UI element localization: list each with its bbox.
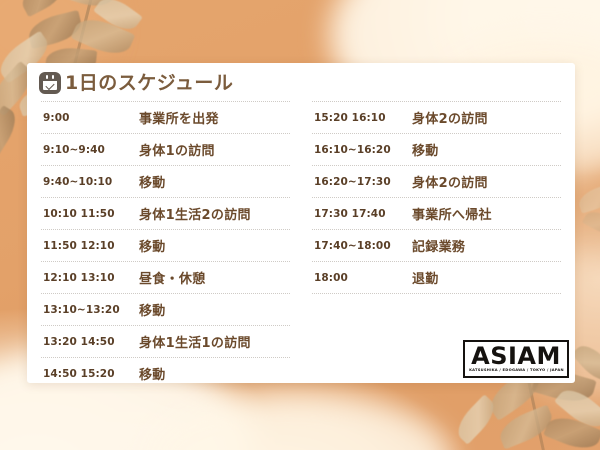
row-time: 13:20 14:50 (43, 336, 139, 348)
row-activity: 身体2の訪問 (412, 172, 559, 191)
table-row: 13:20 14:50 身体1生活1の訪問 (41, 325, 290, 357)
row-time: 16:10~16:20 (314, 144, 412, 156)
row-time: 13:10~13:20 (43, 304, 139, 316)
row-activity: 昼食・休憩 (139, 268, 288, 287)
row-activity: 移動 (139, 236, 288, 255)
morning-column: 9:00 事業所を出発 9:10~9:40 身体1の訪問 9:40~10:10 … (41, 101, 290, 383)
row-activity: 身体2の訪問 (412, 108, 559, 127)
table-row: 14:50 15:20 移動 (41, 357, 290, 383)
row-time: 15:20 16:10 (314, 112, 412, 124)
row-time: 11:50 12:10 (43, 240, 139, 252)
table-row: 13:10~13:20 移動 (41, 293, 290, 325)
row-time: 9:10~9:40 (43, 144, 139, 156)
row-activity: 事業所へ帰社 (412, 204, 559, 223)
row-activity: 退勤 (412, 268, 559, 287)
calendar-icon (39, 72, 61, 94)
asiam-logo: ASIAM KATSUSHIKA / EDOGAWA / TOKYO / JAP… (463, 340, 569, 378)
row-time: 10:10 11:50 (43, 208, 139, 220)
table-row: 17:30 17:40 事業所へ帰社 (312, 197, 561, 229)
row-time: 9:40~10:10 (43, 176, 139, 188)
row-time: 9:00 (43, 112, 139, 124)
table-row: 9:10~9:40 身体1の訪問 (41, 133, 290, 165)
table-row: 11:50 12:10 移動 (41, 229, 290, 261)
row-activity: 事業所を出発 (139, 108, 288, 127)
row-time: 18:00 (314, 272, 412, 284)
table-row: 9:40~10:10 移動 (41, 165, 290, 197)
row-time: 17:30 17:40 (314, 208, 412, 220)
logo-subtitle: KATSUSHIKA / EDOGAWA / TOKYO / JAPAN (469, 368, 563, 373)
table-row: 10:10 11:50 身体1生活2の訪問 (41, 197, 290, 229)
row-time: 14:50 15:20 (43, 368, 139, 380)
schedule-card: 1日のスケジュール 9:00 事業所を出発 9:10~9:40 身体1の訪問 9… (27, 63, 575, 383)
row-activity: 身体1生活1の訪問 (139, 332, 288, 351)
table-row: 18:00 退勤 (312, 261, 561, 294)
table-row: 9:00 事業所を出発 (41, 101, 290, 133)
row-activity: 移動 (139, 364, 288, 383)
row-time: 17:40~18:00 (314, 240, 412, 252)
row-activity: 身体1の訪問 (139, 140, 288, 159)
table-row: 12:10 13:10 昼食・休憩 (41, 261, 290, 293)
row-time: 12:10 13:10 (43, 272, 139, 284)
table-row: 16:20~17:30 身体2の訪問 (312, 165, 561, 197)
table-row: 16:10~16:20 移動 (312, 133, 561, 165)
row-activity: 移動 (139, 172, 288, 191)
logo-wordmark: ASIAM (470, 345, 562, 368)
row-activity: 記録業務 (412, 236, 559, 255)
page-title: 1日のスケジュール (65, 74, 233, 93)
row-activity: 移動 (139, 300, 288, 319)
table-row: 17:40~18:00 記録業務 (312, 229, 561, 261)
table-row: 15:20 16:10 身体2の訪問 (312, 101, 561, 133)
row-activity: 移動 (412, 140, 559, 159)
row-activity: 身体1生活2の訪問 (139, 204, 288, 223)
card-header: 1日のスケジュール (27, 63, 575, 94)
row-time: 16:20~17:30 (314, 176, 412, 188)
